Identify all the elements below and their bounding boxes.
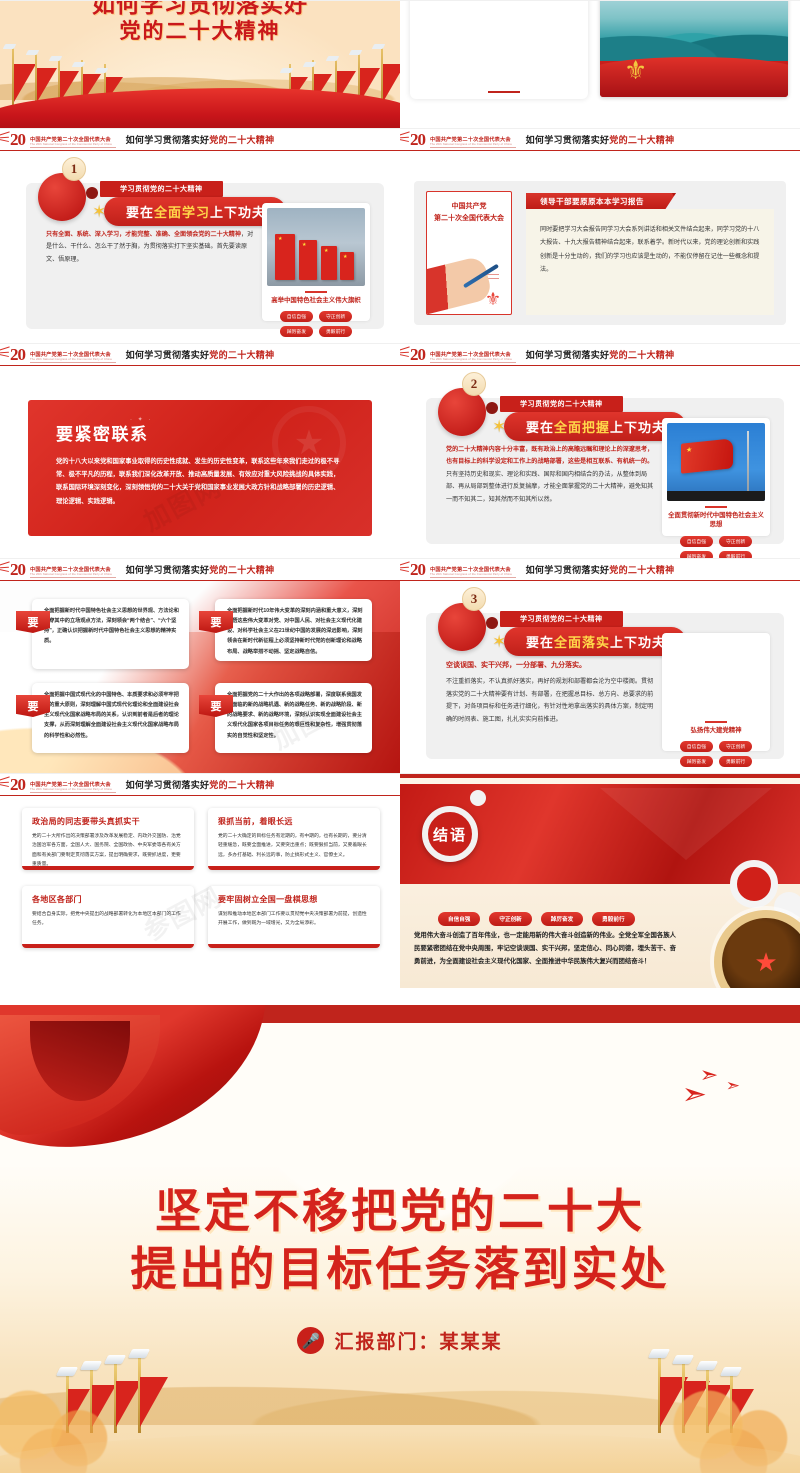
info-box-title: 政治局的同志要带头真抓实干: [32, 816, 184, 827]
title-highlight: 全面学习: [154, 205, 210, 220]
header-title-red: 党的二十大精神: [609, 135, 674, 145]
party-emblem-icon: ⚜: [624, 57, 654, 87]
flag-photo: ★ ★ ★ ★: [267, 208, 365, 286]
paragraph-lead: 只有全面、系统、深入学习，才能完整、准确、全面领会党的二十大精神: [46, 231, 241, 238]
slide-header: 20 中国共产党第二十次全国代表大会 The 20th National Con…: [0, 559, 400, 581]
yao-card-text: 全面把握中国式现代化的中国特色、本质要求和必须牢牢把握的重大原则，深刻理解中国式…: [44, 690, 180, 741]
badge-item: 自信自强: [680, 536, 713, 547]
info-box: 要牢固树立全国一盘棋思想 谋划和推动本地区本部门工作要以贯彻党中央决策部署为前提…: [208, 886, 380, 948]
badge-row: 自信自强 守正创新 踔厉奋发 勇毅前行: [667, 536, 765, 558]
info-box-text: 党的二十大所作出的决策部署涉及改革发展稳定、内政外交国防、治党治国治军各方面，全…: [32, 832, 184, 869]
badge-row: 自信自强 守正创新 踔厉奋发 勇毅前行: [438, 912, 635, 926]
badge-item: 勇毅前行: [319, 326, 352, 337]
number-circle: [438, 603, 486, 651]
paragraph-lead: 空谈误国、实干兴邦，一分部署、九分落实。: [446, 659, 658, 673]
conclusion-paragraph: 党用伟大奋斗创造了百年伟业，也一定能用新的伟大奋斗创造新的伟业。全党全军全国各族…: [414, 930, 682, 968]
slide-thumbnail-0[interactable]: 如何学习贯彻落实好 党的二十大精神: [0, 0, 400, 128]
slide-body: 3 学习贯彻党的二十大精神 ✶ 要在全面落实上下功夫 空谈误国、实干兴邦，一分部…: [400, 581, 800, 773]
cover-title-line2: 提出的目标任务落到实处: [0, 1241, 800, 1299]
small-circle-decoration: [470, 790, 486, 806]
logo-rule: [30, 362, 116, 363]
title-prefix: 要在: [526, 635, 554, 650]
slide-thumbnail-1[interactable]: 平就学习贯彻党的二十大精神进行第一次集体学习。 习近平在主持学习时发表了讲话，他…: [400, 0, 800, 128]
slide-header-title: 如何学习贯彻落实好党的二十大精神: [0, 133, 400, 146]
illustration-card: 中国共产党 第二十次全国代表大会 ⚜: [426, 191, 512, 315]
triangle-decoration: [600, 788, 772, 860]
badge-item: 勇毅前行: [592, 912, 634, 926]
logo-rule: [30, 792, 116, 793]
title-highlight: 全面落实: [554, 635, 610, 650]
section-paragraph: 空谈误国、实干兴邦，一分部署、九分落实。 不注重抓落实，不认真抓好落实，再好的规…: [446, 659, 658, 726]
badge-item: 踔厉奋发: [680, 551, 713, 558]
section-title: 要在全面把握上下功夫: [504, 412, 686, 441]
star-icon: ★: [278, 237, 282, 242]
info-box-text: 要结合自身实际，把党中央提出的战略部署转化为本地区本部门的工作任务。: [32, 910, 184, 929]
title-prefix: 要在: [126, 205, 154, 220]
yao-card-text: 全面把握党的二十大作出的各项战略部署，深度联系我国发展面临的新的战略机遇、新的战…: [227, 690, 363, 741]
section-tagline: 学习贯彻党的二十大精神: [500, 396, 623, 412]
side-card: 全面贯彻新时代中国特色社会主义思想 自信自强 守正创新 踔厉奋发 勇毅前行: [662, 418, 770, 536]
badge-item: 踔厉奋发: [280, 326, 313, 337]
badge-item: 自信自强: [280, 311, 313, 322]
flag-cloth: [681, 438, 733, 473]
writing-hand-icon: [426, 255, 493, 315]
number-dot: [486, 617, 498, 629]
slide-header-title: 如何学习贯彻落实好党的二十大精神: [400, 348, 800, 361]
slide-body: 2 学习贯彻党的二十大精神 ✶ 要在全面把握上下功夫 党的二十大精神内容十分丰富…: [400, 366, 800, 558]
slide-thumbnail-2[interactable]: 20 中国共产党第二十次全国代表大会 The 20th National Con…: [0, 128, 400, 343]
info-box: 政治局的同志要带头真抓实干 党的二十大所作出的决策部署涉及改革发展稳定、内政外交…: [22, 808, 194, 870]
cover-title: 坚定不移把党的二十大 提出的目标任务落到实处: [0, 1183, 800, 1298]
divider: [305, 291, 327, 293]
title-highlight: 全面把握: [554, 420, 610, 435]
badge-row: 自信自强 守正创新 踔厉奋发 勇毅前行: [267, 311, 365, 337]
slide-header: 20 中国共产党第二十次全国代表大会 The 20th National Con…: [400, 559, 800, 581]
text-box: 同时要把学习大会报告同学习大会系列讲话和相关文件结合起来，同学习党的十八大报告、…: [526, 209, 774, 315]
yao-card: 要 全面把握党的二十大作出的各项战略部署，深度联系我国发展面临的新的战略机遇、新…: [215, 683, 372, 753]
header-title-red: 党的二十大精神: [209, 780, 274, 790]
cover-slide[interactable]: ➣ ➣ ➣ 坚定不移把党的二十大 提出的目标任务落到实处 🎤 汇报部门：某某某: [0, 1005, 800, 1473]
panel-bullet-text: 习近平在主持学习时发表了讲话，他指出，学习宣传贯彻党的二十大精神是当前和今后一个…: [420, 0, 578, 3]
divider: [705, 721, 727, 723]
title-prefix: 要在: [526, 420, 554, 435]
header-title-prefix: 如何学习贯彻落实好: [126, 350, 210, 360]
number-circle: [38, 173, 86, 221]
medal-icon: ★: [714, 910, 800, 988]
section-paragraph: 党的二十大精神内容十分丰富，既有政治上的高瞻远瞩和理论上的深邃思考，也有目标上的…: [446, 444, 658, 506]
yao-card-text: 全面把握新时代10年伟大变革的深刻内涵和重大意义，深刻感悟这些伟大变革对党、对中…: [227, 606, 363, 657]
header-title-red: 党的二十大精神: [609, 350, 674, 360]
info-box-title: 要牢固树立全国一盘棋思想: [218, 894, 370, 905]
ribbon-title: 领导干部要原原本本学习报告: [526, 193, 676, 209]
yao-card: 要 全面把握新时代10年伟大变革的深刻内涵和重大意义，深刻感悟这些伟大变革对党、…: [215, 599, 372, 661]
badge-item: 守正创新: [719, 741, 752, 752]
body-paragraph: 同时要把学习大会报告同学习大会系列讲话和相关文件结合起来，同学习党的十八大报告、…: [540, 223, 760, 277]
divider: [705, 506, 727, 508]
header-title-red: 党的二十大精神: [209, 135, 274, 145]
photo-ground: [667, 491, 765, 501]
illustration-title: 中国共产党 第二十次全国代表大会: [427, 201, 511, 224]
slide-thumbnail-4[interactable]: 20 中国共产党第二十次全国代表大会 The 20th National Con…: [0, 343, 400, 558]
panel-underline: [488, 91, 520, 93]
info-box-text: 谋划和推动本地区本部门工作要以贯彻党中央决策部署为前提，创造性开展工作，做到既为…: [218, 910, 370, 929]
header-title-prefix: 如何学习贯彻落实好: [526, 565, 610, 575]
slide-thumbnail-7[interactable]: 20 中国共产党第二十次全国代表大会 The 20th National Con…: [400, 558, 800, 773]
top-accent-bar: [400, 774, 800, 778]
slide-body: ★ · ✦ · 要紧密联系 党的十八大以来党和国家事业取得的历史性成就、发生的历…: [0, 366, 400, 558]
slide-thumbnail-5[interactable]: 20 中国共产党第二十次全国代表大会 The 20th National Con…: [400, 343, 800, 558]
star-icon: ★: [302, 243, 306, 248]
logo-rule: [430, 362, 516, 363]
dove-icon: ➣: [726, 1078, 740, 1093]
badge-row: 自信自强 守正创新 踔厉奋发 勇毅前行: [667, 741, 765, 767]
poster-image: ⚜ 为全面建设社会主义现代化国家、全面推进中华民族伟大复兴而团结奋斗 学习贯彻党…: [600, 0, 788, 97]
header-title-prefix: 如何学习贯彻落实好: [126, 780, 210, 790]
section-tagline: 学习贯彻党的二十大精神: [100, 181, 223, 197]
star-icon: ★: [343, 255, 347, 260]
logo-rule: [30, 147, 116, 148]
paragraph-body: 不注重抓落实，不认真抓好落实，再好的规划和部署都会沦为空中楼阁。贯彻落实党的二十…: [446, 678, 653, 722]
section-paragraph: 只有全面、系统、深入学习，才能完整、准确、全面领会党的二十大精神，对是什么、干什…: [46, 229, 258, 266]
cover-title-line1: 坚定不移把党的二十大: [0, 1183, 800, 1241]
side-caption: 全面贯彻新时代中国特色社会主义思想: [667, 511, 765, 530]
badge-item: 自信自强: [680, 741, 713, 752]
badge-item: 守正创新: [489, 912, 531, 926]
section-title: 要在全面落实上下功夫: [504, 627, 686, 656]
paragraph-lead: 党的二十大精神内容十分丰富，既有政治上的高瞻远瞩和理论上的深邃思考，也有目标上的…: [446, 446, 653, 465]
slide-header-title: 如何学习贯彻落实好党的二十大精神: [0, 778, 400, 791]
section-number: 2: [462, 372, 486, 396]
slide-header-title: 如何学习贯彻落实好党的二十大精神: [0, 348, 400, 361]
badge-item: 勇毅前行: [719, 551, 752, 558]
logo-rule: [430, 577, 516, 578]
info-box: 各地区各部门 要结合自身实际，把党中央提出的战略部署转化为本地区本部门的工作任务…: [22, 886, 194, 948]
badge-item: 守正创新: [719, 536, 752, 547]
header-title-prefix: 如何学习贯彻落实好: [126, 135, 210, 145]
illustration-title-line2: 第二十次全国代表大会: [427, 213, 511, 225]
side-card: 弘扬伟大建党精神 自信自强 守正创新 踔厉奋发 勇毅前行: [662, 633, 770, 751]
title-suffix: 上下功夫: [210, 205, 266, 220]
header-title-prefix: 如何学习贯彻落实好: [526, 135, 610, 145]
yao-card: 要 全面把握新时代中国特色社会主义思想的世界观、方法论和贯穿其中的立场观点方法，…: [32, 599, 189, 669]
slide-thumbnail-8[interactable]: 20 中国共产党第二十次全国代表大会 The 20th National Con…: [0, 773, 400, 988]
slide-header: 20 中国共产党第二十次全国代表大会 The 20th National Con…: [400, 344, 800, 366]
emblem-watermark-icon: ★: [272, 406, 346, 480]
section-title: 要在全面学习上下功夫: [104, 197, 286, 226]
slide-header: 20 中国共产党第二十次全国代表大会 The 20th National Con…: [0, 774, 400, 796]
number-dot: [86, 187, 98, 199]
header-title-red: 党的二十大精神: [609, 565, 674, 575]
slide-header: 20 中国共产党第二十次全国代表大会 The 20th National Con…: [0, 344, 400, 366]
conclusion-label: 结语: [422, 806, 478, 862]
slide-header-title: 如何学习贯彻落实好党的二十大精神: [400, 133, 800, 146]
badge-item: 勇毅前行: [719, 756, 752, 767]
badge-item: 踔厉奋发: [541, 912, 583, 926]
title-suffix: 上下功夫: [610, 635, 666, 650]
microphone-icon: 🎤: [297, 1327, 324, 1354]
sparkle-decoration: · ✦ ·: [130, 416, 152, 423]
info-box-title: 各地区各部门: [32, 894, 184, 905]
slide-header: 20 中国共产党第二十次全国代表大会 The 20th National Con…: [400, 129, 800, 151]
content-card: 中国共产党 第二十次全国代表大会 ⚜ 领导干部要原原本本学习报告 同时要把学习大…: [414, 181, 786, 325]
slide-thumbnail-3[interactable]: 20 中国共产党第二十次全国代表大会 The 20th National Con…: [400, 128, 800, 343]
flag-photo: [667, 423, 765, 501]
number-dot: [486, 402, 498, 414]
blank-photo: [667, 638, 765, 716]
info-box-text: 党的二十大确定的目标任务有近期的，有中期的，也有长期的，要分清轻重缓急，既要全面…: [218, 832, 370, 860]
header-title-prefix: 如何学习贯彻落实好: [126, 565, 210, 575]
department-label: 汇报部门：某某某: [334, 1327, 502, 1354]
cover-title-line2: 党的二十大精神: [0, 15, 400, 45]
slide-body: 1 学习贯彻党的二十大精神 ✶ 要在全面学习上下功夫 只有全面、系统、深入学习，…: [0, 151, 400, 343]
side-card: ★ ★ ★ ★ 高举中国特色社会主义伟大旗帜 自信自强 守正创新 踔厉奋发 勇毅…: [262, 203, 370, 321]
number-circle: [438, 388, 486, 436]
yao-card-text: 全面把握新时代中国特色社会主义思想的世界观、方法论和贯穿其中的立场观点方法，深刻…: [44, 606, 180, 647]
red-content-panel: ★ · ✦ · 要紧密联系 党的十八大以来党和国家事业取得的历史性成就、发生的历…: [28, 400, 372, 536]
title-suffix: 上下功夫: [610, 420, 666, 435]
slide-body: 中国共产党 第二十次全国代表大会 ⚜ 领导干部要原原本本学习报告 同时要把学习大…: [400, 151, 800, 343]
section-number: 3: [462, 587, 486, 611]
slide-header: 20 中国共产党第二十次全国代表大会 The 20th National Con…: [0, 129, 400, 151]
header-title-prefix: 如何学习贯彻落实好: [526, 350, 610, 360]
slide-header-title: 如何学习贯彻落实好党的二十大精神: [400, 563, 800, 576]
panel-paragraph: 平就学习贯彻党的二十大精神进行第一次集体学习。 习近平在主持学习时发表了讲话，他…: [420, 0, 578, 3]
badge-item: 踔厉奋发: [680, 756, 713, 767]
paragraph-body: 只有坚持历史和现实、理论和实践、国际和国内相结合的办法，从整体到局部、再从局部到…: [446, 471, 653, 503]
info-box-title: 狠抓当前，着眼长远: [218, 816, 370, 827]
ring-decoration-1: [730, 860, 778, 908]
slide-thumbnail-9[interactable]: 结语 ★ 自信自强 守正创新 踔厉奋发 勇毅前行 党用伟大奋斗创造了百年伟业，也…: [400, 773, 800, 988]
info-box: 狠抓当前，着眼长远 党的二十大确定的目标任务有近期的，有中期的，也有长期的，要分…: [208, 808, 380, 870]
logo-rule: [30, 577, 116, 578]
side-caption: 高举中国特色社会主义伟大旗帜: [267, 296, 365, 306]
slide-header-title: 如何学习贯彻落实好党的二十大精神: [0, 563, 400, 576]
illustration-title-line1: 中国共产党: [427, 201, 511, 213]
header-title-red: 党的二十大精神: [209, 565, 274, 575]
dove-icons: ➣ ➣ ➣: [700, 1065, 740, 1093]
slide-grid: 如何学习贯彻落实好 党的二十大精神: [0, 0, 800, 988]
slide-thumbnail-6[interactable]: 20 中国共产党第二十次全国代表大会 The 20th National Con…: [0, 558, 400, 773]
side-caption: 弘扬伟大建党精神: [667, 726, 765, 736]
header-title-red: 党的二十大精神: [209, 350, 274, 360]
section-tagline: 学习贯彻党的二十大精神: [500, 611, 623, 627]
text-panel: 平就学习贯彻党的二十大精神进行第一次集体学习。 习近平在主持学习时发表了讲话，他…: [410, 0, 588, 99]
badge-item: 守正创新: [319, 311, 352, 322]
ppt-template-preview-page: 如何学习贯彻落实好 党的二十大精神: [0, 0, 800, 1473]
yao-card: 要 全面把握中国式现代化的中国特色、本质要求和必须牢牢把握的重大原则，深刻理解中…: [32, 683, 189, 753]
logo-rule: [430, 147, 516, 148]
star-icon: ★: [324, 249, 328, 254]
section-number: 1: [62, 157, 86, 181]
badge-item: 自信自强: [438, 912, 480, 926]
